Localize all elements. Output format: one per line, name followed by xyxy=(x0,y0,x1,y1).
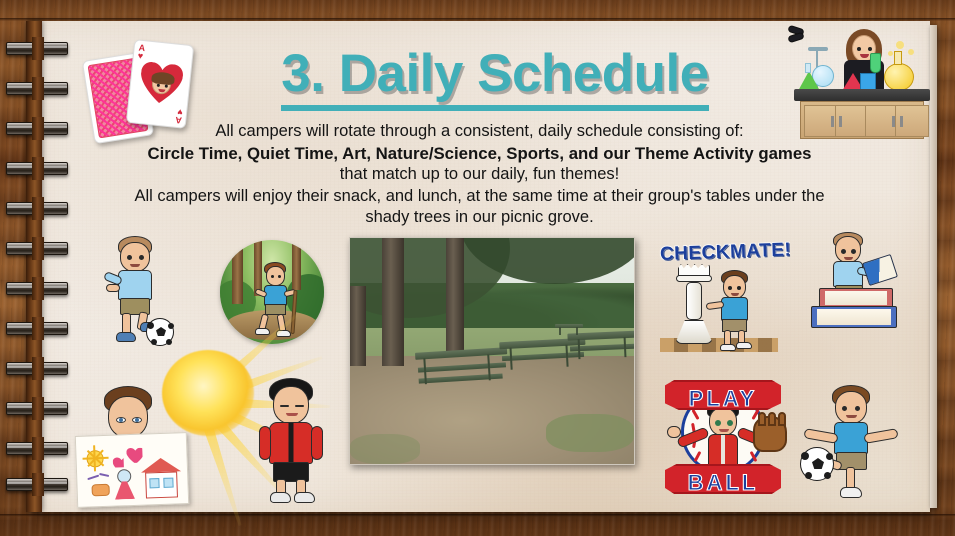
binding-ring xyxy=(6,157,68,180)
avatar-shoe xyxy=(270,492,291,503)
avatar-shoe xyxy=(840,487,862,498)
book-icon xyxy=(819,288,893,308)
baseball-glove-icon xyxy=(753,416,787,452)
picnic-table xyxy=(415,347,509,389)
reading-books-icon xyxy=(795,232,913,342)
avatar-hand xyxy=(667,426,681,438)
page-title: 3. Daily Schedule xyxy=(170,43,820,111)
avatar-shoe xyxy=(116,332,136,342)
photo-grass-patch xyxy=(546,414,634,452)
hiker-bitmoji xyxy=(258,262,298,340)
drawing-window xyxy=(149,478,159,488)
bubble-icon xyxy=(896,41,904,49)
avatar-head xyxy=(835,391,867,424)
avatar-head xyxy=(835,236,861,263)
avatar-head xyxy=(120,242,150,272)
book-icon xyxy=(811,306,897,328)
science-lab-icon xyxy=(788,27,936,139)
lab-bench-top xyxy=(794,89,930,101)
avatar-arm xyxy=(787,32,804,44)
flask-neck xyxy=(894,51,902,65)
childs-drawing xyxy=(75,432,189,508)
playing-cards-icon: A♥ A♥ xyxy=(78,36,190,142)
lab-bench-cabinet xyxy=(800,101,924,139)
ribbon-top: PLAY xyxy=(665,380,781,410)
body-line-bold: Circle Time, Quiet Time, Art, Nature/Sci… xyxy=(92,143,867,165)
binding-ring xyxy=(6,37,68,60)
avatar-shirt xyxy=(834,422,868,454)
avatar-head xyxy=(709,407,737,436)
avatar-head xyxy=(266,266,285,286)
bubble-icon xyxy=(908,49,914,55)
avatar-shirt xyxy=(721,297,748,321)
drawing-cat xyxy=(91,484,109,497)
soccer-ball-icon xyxy=(800,447,834,481)
body-line: that match up to our daily, fun themes! xyxy=(92,164,867,186)
avatar-jacket xyxy=(708,434,738,468)
test-tube-icon xyxy=(870,53,881,73)
drawing-house-roof xyxy=(141,457,181,472)
card-rank-bottom: A♥ xyxy=(174,108,182,125)
soccer-kick-bitmoji xyxy=(798,381,916,499)
lab-clamp-icon xyxy=(808,47,828,51)
photo-tree-trunk xyxy=(446,238,464,356)
picnic-grove-photo xyxy=(349,237,635,465)
avatar-jacket xyxy=(269,422,313,464)
body-line: All campers will rotate through a consis… xyxy=(92,121,867,143)
play-label: PLAY xyxy=(665,386,781,412)
binding-ring xyxy=(6,473,68,496)
soccer-stance-bitmoji xyxy=(96,236,184,344)
binding-ring xyxy=(6,317,68,340)
card-rank-top: A♥ xyxy=(137,44,145,61)
sun-core xyxy=(162,350,254,436)
ace-of-hearts-icon: A♥ A♥ xyxy=(126,39,194,129)
tree-trunk xyxy=(232,240,243,304)
chess-player-bitmoji xyxy=(714,270,762,350)
binding-ring xyxy=(6,237,68,260)
body-line: shady trees in our picnic grove. xyxy=(92,207,867,229)
picnic-table-distant xyxy=(555,324,583,336)
binding-ring xyxy=(6,277,68,300)
avatar-shirt xyxy=(264,285,287,306)
binding-ring xyxy=(6,197,68,220)
ribbon-bottom: BALL xyxy=(665,464,781,494)
flask-neck xyxy=(805,63,811,73)
checkmate-icon: CHECKMATE! xyxy=(660,240,778,352)
binding-ring xyxy=(6,437,68,460)
body-paragraph: All campers will rotate through a consis… xyxy=(92,121,867,229)
binding-ring xyxy=(6,397,68,420)
walking-stick-icon xyxy=(290,290,297,334)
avatar-arm xyxy=(259,426,271,460)
photo-tree-trunk xyxy=(350,286,366,366)
avatar-shoe xyxy=(736,342,752,349)
spiral-binding xyxy=(0,21,72,512)
binding-ring xyxy=(6,117,68,140)
bubble-icon xyxy=(888,51,893,56)
ball-label: BALL xyxy=(665,470,781,496)
nature-hike-icon xyxy=(220,240,324,344)
round-flask-icon xyxy=(884,63,914,91)
soccer-ball-icon xyxy=(146,318,174,346)
drawing-figure-body xyxy=(114,481,135,500)
avatar-shoe xyxy=(294,492,315,503)
avatar-head xyxy=(723,275,746,299)
drawing-bird xyxy=(87,475,99,481)
avatar-hand xyxy=(106,284,120,292)
avatar-shoe xyxy=(720,344,736,351)
open-book-icon xyxy=(862,254,898,286)
play-ball-icon: PLAY BALL xyxy=(663,372,783,498)
avatar-shorts xyxy=(265,304,286,315)
drawing-heart xyxy=(113,457,124,467)
page-title-text: 3. Daily Schedule xyxy=(281,43,708,111)
photo-tree-trunk xyxy=(382,238,404,366)
erlenmeyer-flask-icon xyxy=(798,71,820,91)
avatar-shoe xyxy=(255,328,270,335)
red-jacket-bitmoji xyxy=(255,378,333,506)
body-line: All campers will enjoy their snack, and … xyxy=(92,186,867,208)
drawing-bird xyxy=(99,473,109,477)
avatar-head xyxy=(108,396,148,438)
drawing-window xyxy=(163,478,173,488)
wood-plank-seam xyxy=(0,514,955,517)
checkmate-label: CHECKMATE! xyxy=(660,240,779,266)
photo-grass-patch xyxy=(350,434,420,464)
avatar-arm xyxy=(863,428,898,444)
avatar-head xyxy=(273,386,309,424)
slide-canvas: 3. Daily Schedule All campers will rotat… xyxy=(0,0,955,536)
avatar-arm xyxy=(311,426,323,460)
binding-ring xyxy=(6,77,68,100)
avatar-shirt xyxy=(118,270,152,300)
binding-ring xyxy=(6,357,68,380)
